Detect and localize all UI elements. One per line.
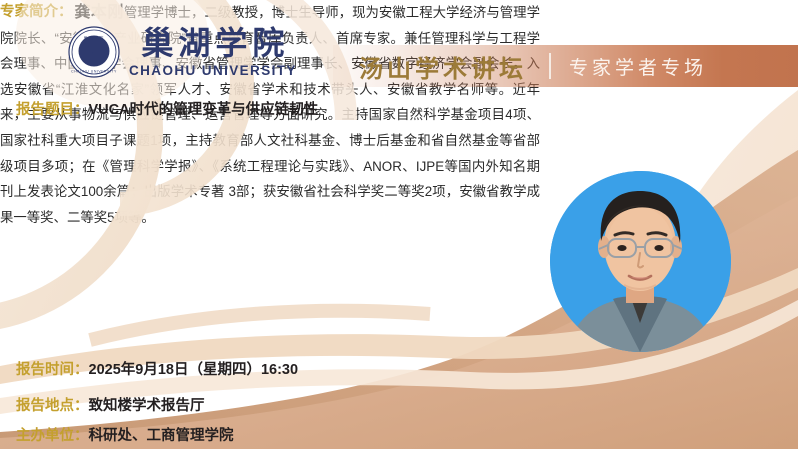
report-title-row: 报告题目： VUCA时代的管理变革与供应链韧性	[16, 98, 318, 119]
ribbon-main-title: 汤山学术讲坛	[359, 49, 527, 84]
report-title-value: VUCA时代的管理变革与供应链韧性	[89, 98, 319, 119]
report-time-row: 报告时间： 2025年9月18日（星期四）16:30	[16, 358, 298, 379]
lecture-series-ribbon: 汤山学术讲坛 专家学者专场	[333, 45, 798, 87]
report-title-label: 报告题目：	[16, 98, 89, 119]
speaker-portrait	[550, 171, 731, 352]
lecture-poster: 巢湖学院 CHAOHU UNIVERSITY 巢湖学院 CHAOHU UNIVE…	[0, 0, 798, 449]
report-place-label: 报告地点：	[16, 394, 89, 415]
university-name-cn: 巢湖学院	[136, 27, 289, 59]
poster-header: 巢湖学院 CHAOHU UNIVERSITY 巢湖学院 CHAOHU UNIVE…	[0, 0, 798, 96]
svg-text:巢湖学院: 巢湖学院	[84, 34, 105, 40]
report-time-value: 2025年9月18日（星期四）16:30	[89, 358, 299, 379]
ribbon-divider	[549, 53, 551, 79]
report-host-row: 主办单位： 科研处、工商管理学院	[16, 424, 234, 445]
university-name-en: CHAOHU UNIVERSITY	[129, 64, 297, 78]
report-host-value: 科研处、工商管理学院	[89, 424, 234, 445]
ribbon-subtitle: 专家学者专场	[569, 53, 707, 80]
report-time-label: 报告时间：	[16, 358, 89, 379]
svg-text:CHAOHU UNIVERSITY: CHAOHU UNIVERSITY	[71, 70, 117, 74]
university-seal-icon: 巢湖学院 CHAOHU UNIVERSITY	[68, 26, 120, 78]
report-place-value: 致知楼学术报告厅	[89, 394, 205, 415]
university-brand: 巢湖学院 CHAOHU UNIVERSITY 巢湖学院 CHAOHU UNIVE…	[68, 26, 297, 78]
portrait-svg	[550, 171, 731, 352]
decor-arc-midleft	[90, 311, 430, 340]
brand-wordmark: 巢湖学院 CHAOHU UNIVERSITY	[129, 27, 297, 78]
report-host-label: 主办单位：	[16, 424, 89, 445]
report-place-row: 报告地点： 致知楼学术报告厅	[16, 394, 205, 415]
seal-svg: 巢湖学院 CHAOHU UNIVERSITY	[68, 26, 120, 78]
